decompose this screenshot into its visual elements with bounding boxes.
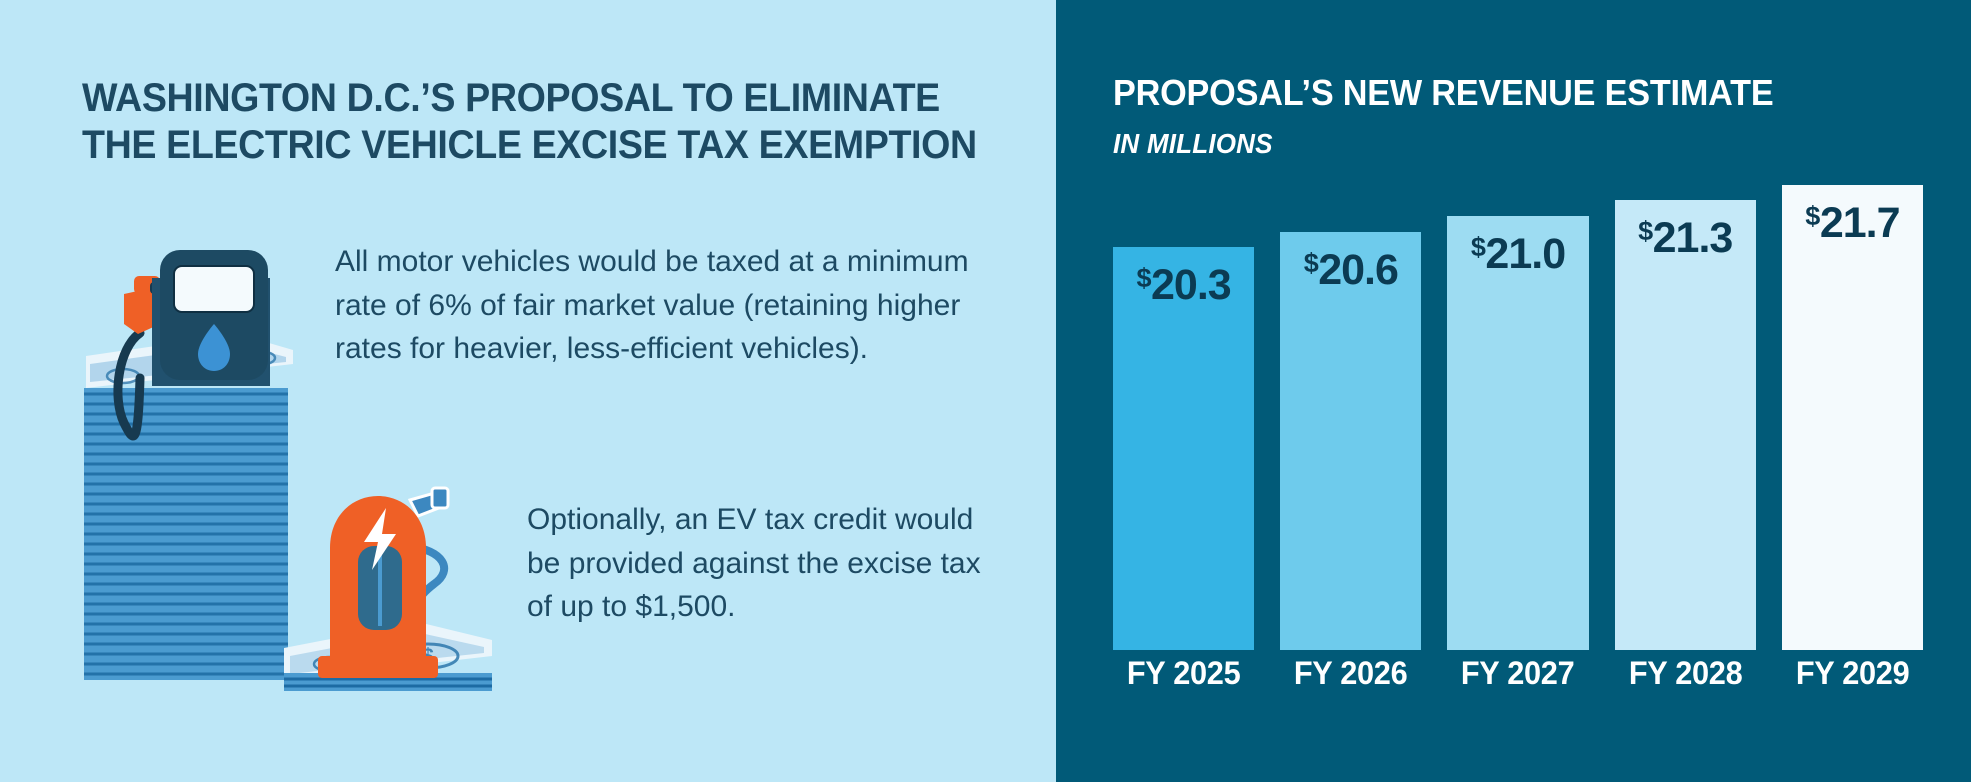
bar-fy-2029: $21.7 <box>1782 185 1923 650</box>
bar-fy-2028: $21.3 <box>1615 200 1756 650</box>
bar-fy-2025: $20.3 <box>1113 247 1254 650</box>
currency-symbol: $ <box>1304 248 1319 278</box>
currency-symbol: $ <box>1136 263 1151 293</box>
pump-body-shape <box>152 250 270 386</box>
paragraph-ev-tax-credit: Optionally, an EV tax credit would be pr… <box>527 498 997 629</box>
paragraph-ev-tax-credit-text: Optionally, an EV tax credit would be pr… <box>527 498 997 629</box>
axis-label-fy-2029: FY 2029 <box>1785 655 1921 692</box>
currency-symbol: $ <box>1638 216 1653 246</box>
infographic-root: WASHINGTON D.C.’S PROPOSAL TO ELIMINATE … <box>0 0 1971 782</box>
currency-symbol: $ <box>1471 232 1486 262</box>
x-axis-labels: FY 2025FY 2026FY 2027FY 2028FY 2029 <box>1113 655 1923 692</box>
right-panel-chart: PROPOSAL’S NEW REVENUE ESTIMATE IN MILLI… <box>1056 0 1971 782</box>
bar-value-number: 21.3 <box>1653 214 1733 262</box>
bar-value-label: $20.3 <box>1113 261 1254 310</box>
chart-title: PROPOSAL’S NEW REVENUE ESTIMATE <box>1113 72 1773 114</box>
charging-connector-shape <box>410 488 448 516</box>
page-title: WASHINGTON D.C.’S PROPOSAL TO ELIMINATE … <box>82 75 937 169</box>
bar-value-number: 21.0 <box>1485 230 1565 278</box>
bar-value-label: $21.3 <box>1615 214 1756 263</box>
bar-value-number: 21.7 <box>1820 199 1900 247</box>
bar-fy-2026: $20.6 <box>1280 232 1421 650</box>
bar-value-label: $21.0 <box>1447 230 1588 279</box>
gas-pump-on-money-stack-icon: $ <box>78 238 293 688</box>
axis-label-fy-2025: FY 2025 <box>1116 655 1252 692</box>
currency-symbol: $ <box>1805 201 1820 231</box>
bar-fy-2027: $21.0 <box>1447 216 1588 650</box>
bar-column-fy-2025: $20.3 <box>1113 185 1254 650</box>
paragraph-minimum-rate: All motor vehicles would be taxed at a m… <box>335 240 995 371</box>
bar-group: $20.3$20.6$21.0$21.3$21.7 <box>1113 185 1923 650</box>
bar-column-fy-2029: $21.7 <box>1782 185 1923 650</box>
bar-value-label: $21.7 <box>1782 199 1923 248</box>
chart-subtitle: IN MILLIONS <box>1113 128 1273 160</box>
bar-column-fy-2027: $21.0 <box>1447 185 1588 650</box>
bar-column-fy-2026: $20.6 <box>1280 185 1421 650</box>
axis-label-fy-2028: FY 2028 <box>1617 655 1753 692</box>
axis-label-fy-2026: FY 2026 <box>1283 655 1419 692</box>
paragraph-minimum-rate-text: All motor vehicles would be taxed at a m… <box>335 240 995 371</box>
left-panel: WASHINGTON D.C.’S PROPOSAL TO ELIMINATE … <box>0 0 1056 782</box>
page-title-line-2: THE ELECTRIC VEHICLE EXCISE TAX EXEMPTIO… <box>82 122 937 169</box>
axis-label-fy-2027: FY 2027 <box>1450 655 1586 692</box>
ev-charging-station-on-money-icon: $ <box>278 480 493 695</box>
page-title-line-1: WASHINGTON D.C.’S PROPOSAL TO ELIMINATE <box>82 75 937 122</box>
bar-value-number: 20.6 <box>1318 246 1398 294</box>
revenue-bar-chart: $20.3$20.6$21.0$21.3$21.7 FY 2025FY 2026… <box>1113 185 1923 650</box>
charger-post-shape <box>318 496 438 678</box>
bar-value-number: 20.3 <box>1151 261 1231 309</box>
bar-value-label: $20.6 <box>1280 246 1421 295</box>
bar-column-fy-2028: $21.3 <box>1615 185 1756 650</box>
